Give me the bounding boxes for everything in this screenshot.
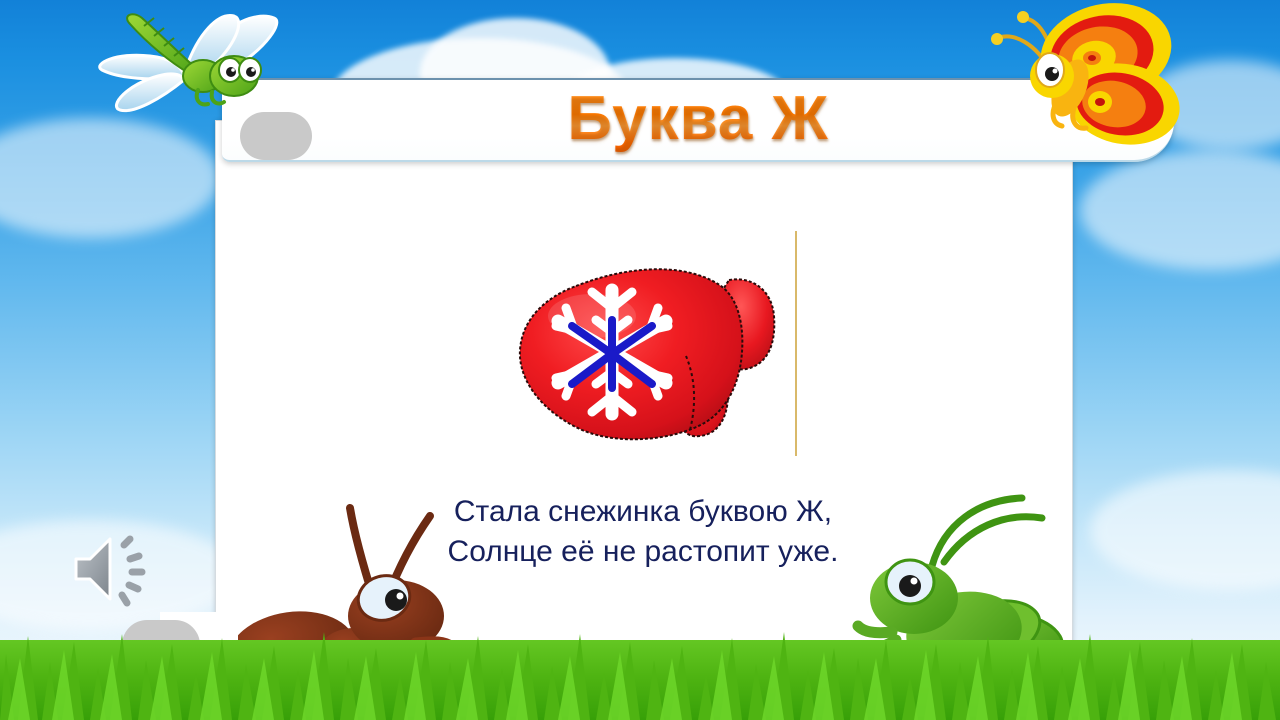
cloud-shape bbox=[1090, 470, 1280, 590]
butterfly-icon bbox=[988, 0, 1188, 156]
speaker-sound-icon[interactable] bbox=[72, 527, 164, 611]
grass-band bbox=[0, 640, 1280, 720]
cloud-shape bbox=[0, 118, 220, 238]
slide-canvas: Буква Ж bbox=[0, 0, 1280, 720]
cloud-shape bbox=[1080, 150, 1280, 270]
dragonfly-icon bbox=[58, 4, 288, 132]
red-mitten-with-snowflake-icon bbox=[500, 240, 800, 465]
